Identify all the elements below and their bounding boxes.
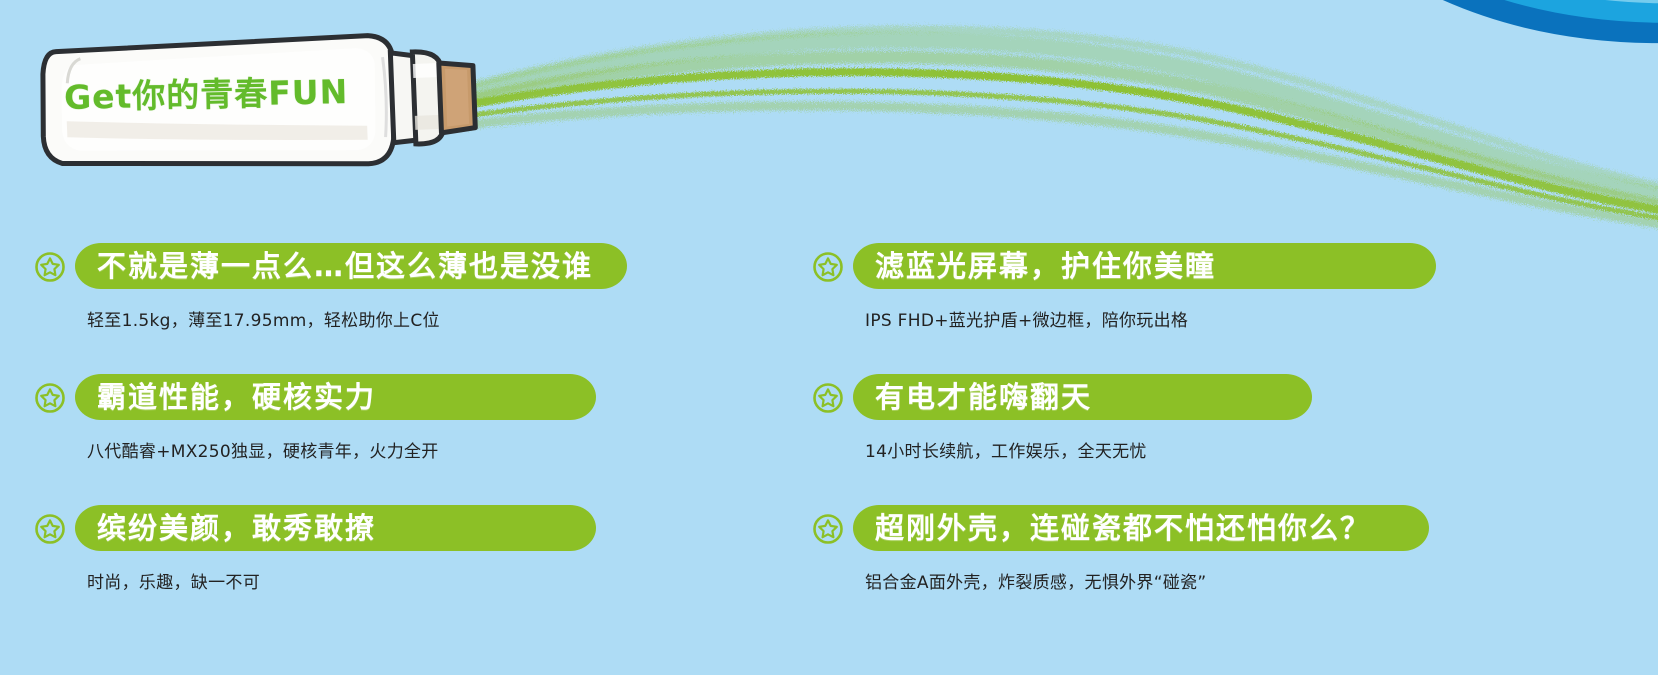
feature-head: 缤纷美颜，敢秀敢撩 [34, 500, 834, 556]
feature-item[interactable]: 滤蓝光屏幕，护住你美瞳 IPS FHD+蓝光护盾+微边框，陪你玩出格 [812, 238, 1612, 369]
feature-item[interactable]: 超刚外壳，连碰瓷都不怕还怕你么？ 铝合金A面外壳，炸裂质感，无惧外界“碰瓷” [812, 500, 1612, 631]
star-circle-icon [812, 382, 844, 414]
feature-head: 有电才能嗨翻天 [812, 369, 1612, 425]
feature-title-pill: 超刚外壳，连碰瓷都不怕还怕你么？ [853, 505, 1429, 551]
feature-title: 滤蓝光屏幕，护住你美瞳 [875, 252, 1216, 281]
feature-subtitle: 14小时长续航，工作娱乐，全天无忧 [812, 437, 1612, 462]
feature-subtitle: IPS FHD+蓝光护盾+微边框，陪你玩出格 [812, 306, 1612, 331]
feature-item[interactable]: 缤纷美颜，敢秀敢撩 时尚，乐趣，缺一不可 [34, 500, 834, 631]
feature-grid: 不就是薄一点么…但这么薄也是没谁 轻至1.5kg，薄至17.95mm，轻松助你上… [0, 238, 1658, 658]
feature-subtitle: 八代酷睿+MX250独显，硬核青年，火力全开 [34, 437, 834, 462]
feature-title-pill: 滤蓝光屏幕，护住你美瞳 [853, 243, 1436, 289]
bottle-slogan-wrap: Get你的青春FUN [18, 8, 488, 193]
feature-title: 霸道性能，硬核实力 [97, 383, 376, 412]
feature-head: 滤蓝光屏幕，护住你美瞳 [812, 238, 1612, 294]
feature-item[interactable]: 霸道性能，硬核实力 八代酷睿+MX250独显，硬核青年，火力全开 [34, 369, 834, 500]
feature-head: 超刚外壳，连碰瓷都不怕还怕你么？ [812, 500, 1612, 556]
blue-swoosh-decoration [1320, 0, 1658, 43]
feature-column-left: 不就是薄一点么…但这么薄也是没谁 轻至1.5kg，薄至17.95mm，轻松助你上… [34, 238, 834, 631]
feature-title-pill: 缤纷美颜，敢秀敢撩 [75, 505, 596, 551]
feature-head: 不就是薄一点么…但这么薄也是没谁 [34, 238, 834, 294]
feature-subtitle: 铝合金A面外壳，炸裂质感，无惧外界“碰瓷” [812, 568, 1612, 593]
star-circle-icon [34, 251, 66, 283]
feature-item[interactable]: 不就是薄一点么…但这么薄也是没谁 轻至1.5kg，薄至17.95mm，轻松助你上… [34, 238, 834, 369]
star-circle-icon [812, 513, 844, 545]
feature-head: 霸道性能，硬核实力 [34, 369, 834, 425]
star-circle-icon [34, 513, 66, 545]
feature-title-pill: 有电才能嗨翻天 [853, 374, 1312, 420]
feature-column-right: 滤蓝光屏幕，护住你美瞳 IPS FHD+蓝光护盾+微边框，陪你玩出格 有电才能嗨… [812, 238, 1612, 631]
feature-title-pill: 不就是薄一点么…但这么薄也是没谁 [75, 243, 627, 289]
star-circle-icon [34, 382, 66, 414]
feature-item[interactable]: 有电才能嗨翻天 14小时长续航，工作娱乐，全天无忧 [812, 369, 1612, 500]
star-circle-icon [812, 251, 844, 283]
green-spray-trail [448, 29, 1658, 224]
feature-subtitle: 时尚，乐趣，缺一不可 [34, 568, 834, 593]
feature-subtitle: 轻至1.5kg，薄至17.95mm，轻松助你上C位 [34, 306, 834, 331]
feature-title: 不就是薄一点么…但这么薄也是没谁 [97, 252, 593, 281]
feature-title: 有电才能嗨翻天 [875, 383, 1092, 412]
bottle-slogan: Get你的青春FUN [64, 65, 349, 119]
promo-banner: Get你的青春FUN 不就是薄一点么…但这么薄也是没谁 轻至1.5 [0, 0, 1658, 675]
feature-title: 缤纷美颜，敢秀敢撩 [97, 514, 376, 543]
feature-title-pill: 霸道性能，硬核实力 [75, 374, 596, 420]
feature-title: 超刚外壳，连碰瓷都不怕还怕你么？ [875, 514, 1371, 543]
